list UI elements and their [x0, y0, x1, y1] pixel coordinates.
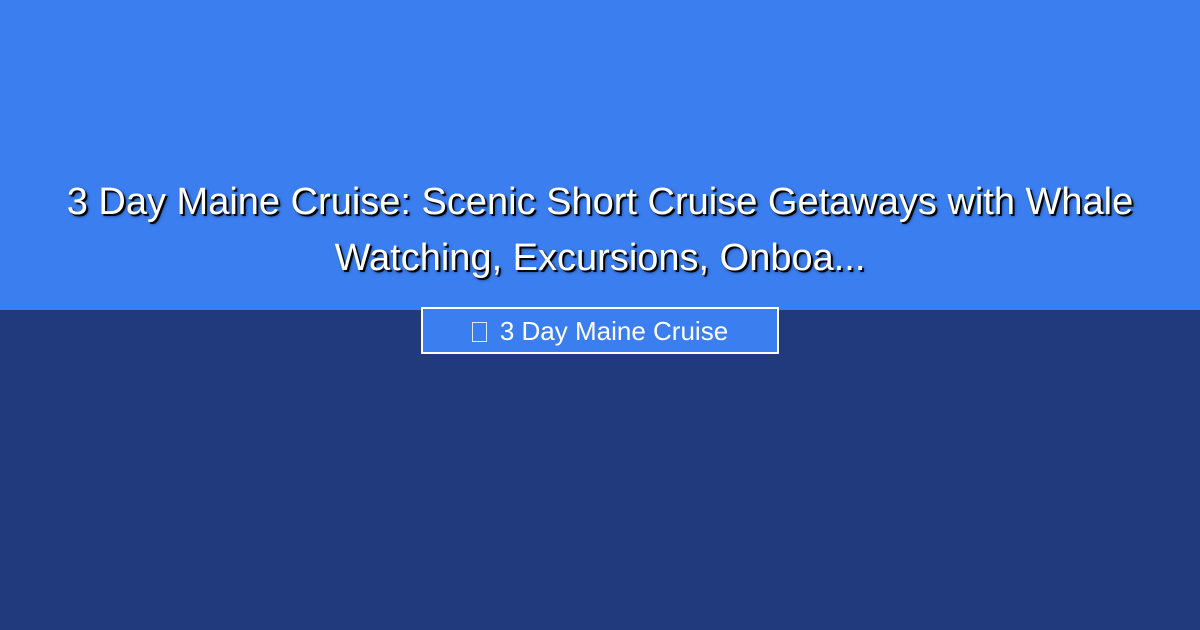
page-title: 3 Day Maine Cruise: Scenic Short Cruise … [0, 174, 1200, 286]
card-content: 3 Day Maine Cruise: Scenic Short Cruise … [0, 0, 1200, 630]
social-share-card: 3 Day Maine Cruise: Scenic Short Cruise … [0, 0, 1200, 630]
cta-button-label: 3 Day Maine Cruise [500, 318, 728, 344]
missing-glyph-box-icon [472, 322, 487, 342]
cta-button[interactable]: 3 Day Maine Cruise [421, 307, 779, 354]
cta-container: 3 Day Maine Cruise [0, 307, 1200, 354]
